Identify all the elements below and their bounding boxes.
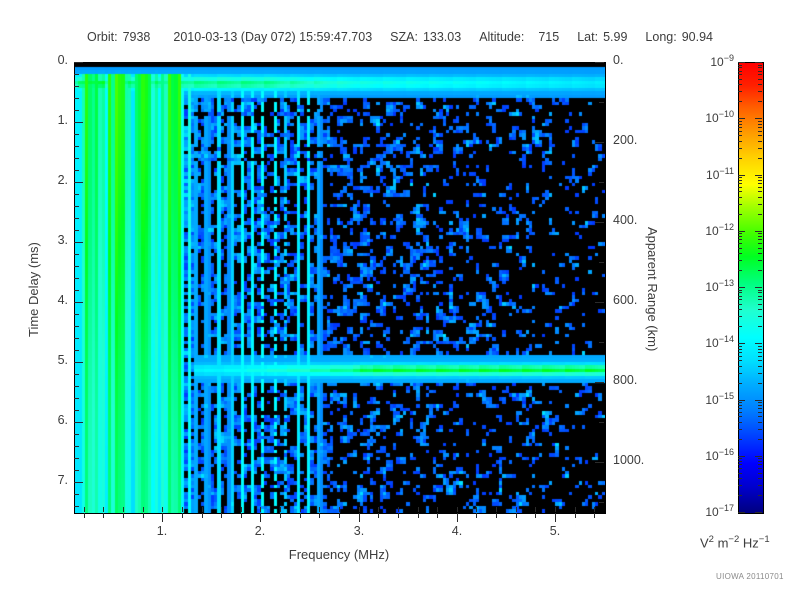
y-axis-major-tick (74, 302, 83, 303)
colorbar-minor-tick (738, 464, 742, 465)
colorbar-units: V2 m−2 Hz−1 (700, 534, 770, 550)
x-axis-minor-tick (202, 513, 203, 518)
y-axis-minor-tick (74, 158, 79, 159)
header-lat-value: 5.99 (603, 30, 627, 44)
y-axis-minor-tick (74, 110, 79, 111)
header-sza-value: 133.03 (423, 30, 461, 44)
y-axis-major-tick (74, 482, 83, 483)
y2-axis-tick-label: 1000. (613, 453, 644, 467)
x-axis-tick-label: 5. (535, 524, 575, 538)
x-axis-minor-tick (84, 513, 85, 518)
x-axis-minor-tick-inner (202, 507, 203, 512)
colorbar-major-tick (738, 456, 745, 457)
colorbar-minor-tick (758, 296, 762, 297)
colorbar-minor-tick (758, 290, 762, 291)
colorbar-minor-tick (758, 304, 762, 305)
y-axis-minor-tick (74, 194, 79, 195)
colorbar (738, 62, 764, 514)
colorbar-minor-tick (738, 253, 742, 254)
header-sza-key: SZA: (390, 30, 418, 44)
y-axis-minor-tick (74, 86, 79, 87)
colorbar-major-tick (755, 400, 762, 401)
colorbar-minor-tick (738, 180, 742, 181)
colorbar-minor-tick (758, 402, 762, 403)
y-axis-minor-tick (74, 206, 79, 207)
colorbar-minor-tick (738, 352, 742, 353)
y2-axis-major-tick (595, 302, 604, 303)
x-axis-minor-tick-inner (300, 507, 301, 512)
y-axis-tick-label: 1. (38, 113, 68, 127)
colorbar-minor-tick (738, 270, 742, 271)
y-axis-minor-tick (74, 218, 79, 219)
colorbar-minor-tick (758, 135, 762, 136)
x-axis-minor-tick (123, 513, 124, 518)
y-axis-minor-tick (74, 398, 79, 399)
plot-header: Orbit:79382010-03-13 (Day 072) 15:59:47.… (0, 30, 800, 44)
y-axis-minor-tick (74, 434, 79, 435)
y-axis-minor-tick (74, 374, 79, 375)
colorbar-major-tick (755, 456, 762, 457)
colorbar-minor-tick (738, 79, 742, 80)
x-axis-tick-label: 4. (437, 524, 477, 538)
colorbar-minor-tick (738, 204, 742, 205)
y2-axis-title: Apparent Range (km) (645, 227, 660, 351)
x-axis-minor-tick-inner (594, 507, 595, 512)
y2-axis-tick-label: 600. (613, 293, 637, 307)
colorbar-tick-label: 10−13 (680, 278, 734, 294)
x-axis-minor-tick-inner (143, 507, 144, 512)
y-axis-tick-label: 6. (38, 413, 68, 427)
header-orbit-key: Orbit: (87, 30, 118, 44)
y2-axis-major-tick (595, 382, 604, 383)
colorbar-minor-tick (758, 177, 762, 178)
colorbar-minor-tick (738, 233, 742, 234)
colorbar-minor-tick (738, 429, 742, 430)
x-axis-minor-tick (300, 513, 301, 518)
colorbar-minor-tick (738, 412, 742, 413)
colorbar-minor-tick (758, 416, 762, 417)
x-axis-minor-tick-inner (260, 507, 261, 512)
colorbar-minor-tick (738, 135, 742, 136)
colorbar-minor-tick (758, 183, 762, 184)
colorbar-minor-tick (738, 71, 742, 72)
colorbar-minor-tick (738, 495, 742, 496)
colorbar-major-tick (755, 62, 762, 63)
colorbar-minor-tick (758, 461, 762, 462)
x-axis-minor-tick-inner (496, 507, 497, 512)
x-axis-minor-tick (280, 513, 281, 518)
y2-axis-tick-label: 400. (613, 213, 637, 227)
x-axis-minor-tick-inner (280, 507, 281, 512)
colorbar-minor-tick (738, 124, 742, 125)
colorbar-minor-tick (758, 260, 762, 261)
colorbar-minor-tick (758, 299, 762, 300)
colorbar-minor-tick (758, 67, 762, 68)
colorbar-minor-tick (758, 84, 762, 85)
header-orbit-value: 7938 (123, 30, 151, 44)
colorbar-minor-tick (758, 127, 762, 128)
y-axis-minor-tick (74, 146, 79, 147)
colorbar-major-tick (738, 231, 745, 232)
colorbar-minor-tick (758, 270, 762, 271)
colorbar-minor-tick (758, 180, 762, 181)
colorbar-minor-tick (758, 197, 762, 198)
colorbar-tick-label: 10−17 (680, 503, 734, 519)
colorbar-minor-tick (758, 233, 762, 234)
colorbar-minor-tick (758, 187, 762, 188)
x-axis-minor-tick-inner (182, 507, 183, 512)
x-axis-minor-tick (319, 513, 320, 518)
y-axis-tick-label: 5. (38, 353, 68, 367)
colorbar-major-tick (738, 343, 745, 344)
x-axis-minor-tick-inner (398, 507, 399, 512)
colorbar-minor-tick (758, 429, 762, 430)
y-axis-minor-tick (74, 338, 79, 339)
colorbar-minor-tick (738, 158, 742, 159)
colorbar-minor-tick (738, 292, 742, 293)
x-axis-major-tick (457, 513, 458, 522)
colorbar-minor-tick (758, 422, 762, 423)
colorbar-minor-tick (738, 74, 742, 75)
x-axis-minor-tick-inner (418, 507, 419, 512)
colorbar-major-tick (755, 512, 762, 513)
colorbar-minor-tick (758, 292, 762, 293)
x-axis-tick-label: 3. (339, 524, 379, 538)
colorbar-major-tick (738, 62, 745, 63)
y-axis-minor-tick (74, 98, 79, 99)
x-axis-major-tick (162, 513, 163, 522)
y2-axis-tick-label: 800. (613, 373, 637, 387)
colorbar-major-tick (755, 175, 762, 176)
x-axis-minor-tick-inner (339, 507, 340, 512)
colorbar-minor-tick (738, 383, 742, 384)
colorbar-major-tick (755, 287, 762, 288)
colorbar-minor-tick (738, 84, 742, 85)
y-axis-minor-tick (74, 506, 79, 507)
y2-axis-major-tick (595, 142, 604, 143)
colorbar-minor-tick (758, 91, 762, 92)
y2-axis-minor-tick (599, 262, 604, 263)
colorbar-minor-tick (738, 248, 742, 249)
y-axis-major-tick (74, 242, 83, 243)
colorbar-minor-tick (758, 65, 762, 66)
x-axis-minor-tick-inner (319, 507, 320, 512)
colorbar-minor-tick (758, 316, 762, 317)
colorbar-minor-tick (758, 141, 762, 142)
colorbar-minor-tick (738, 346, 742, 347)
colorbar-minor-tick (758, 204, 762, 205)
x-axis-major-tick (555, 513, 556, 522)
y2-axis-minor-tick (599, 342, 604, 343)
colorbar-minor-tick (758, 158, 762, 159)
x-axis-minor-tick-inner (123, 507, 124, 512)
colorbar-minor-tick (738, 405, 742, 406)
colorbar-tick-label: 10−15 (680, 391, 734, 407)
colorbar-minor-tick (738, 473, 742, 474)
x-axis-minor-tick-inner (516, 507, 517, 512)
y-axis-tick-label: 3. (38, 233, 68, 247)
y-axis-tick-label: 0. (38, 53, 68, 67)
colorbar-minor-tick (738, 121, 742, 122)
colorbar-minor-tick (738, 197, 742, 198)
colorbar-major-tick (738, 118, 745, 119)
colorbar-major-tick (738, 512, 745, 513)
colorbar-minor-tick (738, 468, 742, 469)
y-axis-major-tick (74, 422, 83, 423)
y2-axis-minor-tick (599, 422, 604, 423)
y2-axis-minor-tick (599, 182, 604, 183)
colorbar-major-tick (755, 118, 762, 119)
y-axis-minor-tick (74, 314, 79, 315)
y-axis-minor-tick (74, 74, 79, 75)
colorbar-major-tick (738, 287, 745, 288)
header-altitude-key: Altitude: (479, 30, 524, 44)
colorbar-minor-tick (758, 464, 762, 465)
colorbar-minor-tick (738, 127, 742, 128)
colorbar-minor-tick (738, 326, 742, 327)
colorbar-minor-tick (738, 309, 742, 310)
colorbar-minor-tick (758, 349, 762, 350)
x-axis-minor-tick (182, 513, 183, 518)
colorbar-minor-tick (738, 408, 742, 409)
y2-axis-major-tick (595, 462, 604, 463)
x-axis-minor-tick-inner (457, 507, 458, 512)
colorbar-minor-tick (738, 101, 742, 102)
colorbar-minor-tick (738, 485, 742, 486)
colorbar-minor-tick (758, 191, 762, 192)
colorbar-minor-tick (758, 360, 762, 361)
colorbar-minor-tick (758, 124, 762, 125)
colorbar-minor-tick (738, 439, 742, 440)
x-axis-minor-tick (437, 513, 438, 518)
x-axis-minor-tick (476, 513, 477, 518)
colorbar-minor-tick (758, 79, 762, 80)
colorbar-minor-tick (758, 408, 762, 409)
colorbar-major-tick (755, 343, 762, 344)
x-axis-minor-tick-inner (241, 507, 242, 512)
colorbar-minor-tick (758, 485, 762, 486)
y-axis-tick-label: 2. (38, 173, 68, 187)
x-axis-minor-tick-inner (555, 507, 556, 512)
header-altitude-value: 715 (538, 30, 559, 44)
colorbar-minor-tick (738, 65, 742, 66)
colorbar-minor-tick (738, 239, 742, 240)
y-axis-minor-tick (74, 386, 79, 387)
colorbar-minor-tick (758, 74, 762, 75)
colorbar-minor-tick (758, 239, 762, 240)
x-axis-minor-tick (398, 513, 399, 518)
colorbar-minor-tick (758, 71, 762, 72)
x-axis-minor-tick-inner (162, 507, 163, 512)
x-axis-minor-tick (496, 513, 497, 518)
x-axis-major-tick (260, 513, 261, 522)
x-axis-minor-tick (516, 513, 517, 518)
colorbar-minor-tick (738, 91, 742, 92)
x-axis-minor-tick (241, 513, 242, 518)
y-axis-major-tick (74, 362, 83, 363)
y-axis-major-tick (74, 182, 83, 183)
x-axis-minor-tick (418, 513, 419, 518)
x-axis-tick-label: 1. (142, 524, 182, 538)
colorbar-minor-tick (758, 214, 762, 215)
colorbar-minor-tick (758, 383, 762, 384)
ionogram-plot-area (74, 62, 606, 514)
x-axis-minor-tick-inner (535, 507, 536, 512)
x-axis-minor-tick (575, 513, 576, 518)
colorbar-minor-tick (738, 416, 742, 417)
colorbar-minor-tick (738, 360, 742, 361)
x-axis-minor-tick-inner (575, 507, 576, 512)
header-long-value: 90.94 (682, 30, 713, 44)
colorbar-minor-tick (738, 290, 742, 291)
colorbar-tick-label: 10−11 (680, 166, 734, 182)
y2-axis-tick-label: 0. (613, 53, 623, 67)
y2-axis-major-tick (595, 62, 604, 63)
y-axis-minor-tick (74, 410, 79, 411)
colorbar-tick-label: 10−10 (680, 109, 734, 125)
x-axis-minor-tick-inner (378, 507, 379, 512)
credit-label: UIOWA 20110701 (716, 572, 784, 581)
colorbar-minor-tick (758, 473, 762, 474)
colorbar-minor-tick (758, 405, 762, 406)
y-axis-minor-tick (74, 170, 79, 171)
colorbar-major-tick (738, 175, 745, 176)
x-axis-minor-tick (143, 513, 144, 518)
ionogram-heatmap (75, 63, 605, 513)
header-lat-key: Lat: (577, 30, 598, 44)
colorbar-minor-tick (738, 141, 742, 142)
colorbar-minor-tick (758, 101, 762, 102)
colorbar-minor-tick (758, 248, 762, 249)
colorbar-minor-tick (738, 260, 742, 261)
y-axis-minor-tick (74, 470, 79, 471)
y-axis-minor-tick (74, 494, 79, 495)
y-axis-minor-tick (74, 350, 79, 351)
y2-axis-minor-tick (599, 502, 604, 503)
x-axis-minor-tick (535, 513, 536, 518)
x-axis-major-tick (359, 513, 360, 522)
x-axis-minor-tick-inner (437, 507, 438, 512)
colorbar-minor-tick (738, 243, 742, 244)
colorbar-minor-tick (738, 356, 742, 357)
header-date-value: 2010-03-13 (Day 072) 15:59:47.703 (173, 30, 372, 44)
y-axis-major-tick (74, 122, 83, 123)
colorbar-minor-tick (758, 356, 762, 357)
colorbar-minor-tick (758, 236, 762, 237)
y-axis-minor-tick (74, 254, 79, 255)
colorbar-minor-tick (738, 478, 742, 479)
y-axis-minor-tick (74, 446, 79, 447)
colorbar-minor-tick (758, 495, 762, 496)
colorbar-minor-tick (738, 191, 742, 192)
y-axis-tick-label: 4. (38, 293, 68, 307)
colorbar-minor-tick (738, 349, 742, 350)
y-axis-minor-tick (74, 266, 79, 267)
x-axis-minor-tick-inner (221, 507, 222, 512)
colorbar-minor-tick (738, 461, 742, 462)
x-axis-minor-tick (339, 513, 340, 518)
y-axis-minor-tick (74, 326, 79, 327)
colorbar-minor-tick (758, 326, 762, 327)
colorbar-major-tick (738, 400, 745, 401)
y-axis-title: Time Delay (ms) (26, 242, 41, 337)
colorbar-minor-tick (758, 253, 762, 254)
colorbar-minor-tick (738, 422, 742, 423)
colorbar-minor-tick (758, 352, 762, 353)
y-axis-minor-tick (74, 278, 79, 279)
y2-axis-major-tick (595, 222, 604, 223)
x-axis-tick-label: 2. (240, 524, 280, 538)
colorbar-minor-tick (758, 478, 762, 479)
colorbar-tick-label: 10−14 (680, 334, 734, 350)
colorbar-minor-tick (738, 316, 742, 317)
colorbar-minor-tick (758, 412, 762, 413)
colorbar-minor-tick (738, 373, 742, 374)
colorbar-minor-tick (738, 299, 742, 300)
colorbar-minor-tick (738, 187, 742, 188)
x-axis-minor-tick-inner (359, 507, 360, 512)
x-axis-title: Frequency (MHz) (0, 547, 678, 562)
y-axis-minor-tick (74, 230, 79, 231)
colorbar-minor-tick (758, 439, 762, 440)
x-axis-minor-tick-inner (84, 507, 85, 512)
colorbar-minor-tick (738, 67, 742, 68)
header-long-key: Long: (645, 30, 676, 44)
colorbar-minor-tick (758, 366, 762, 367)
colorbar-minor-tick (758, 458, 762, 459)
y2-axis-minor-tick (599, 102, 604, 103)
colorbar-minor-tick (738, 177, 742, 178)
colorbar-minor-tick (738, 296, 742, 297)
colorbar-minor-tick (738, 148, 742, 149)
colorbar-minor-tick (758, 373, 762, 374)
x-axis-minor-tick (221, 513, 222, 518)
colorbar-minor-tick (738, 214, 742, 215)
x-axis-minor-tick (378, 513, 379, 518)
y-axis-minor-tick (74, 290, 79, 291)
x-axis-minor-tick (594, 513, 595, 518)
colorbar-minor-tick (738, 304, 742, 305)
colorbar-minor-tick (738, 402, 742, 403)
colorbar-minor-tick (758, 131, 762, 132)
colorbar-tick-label: 10−9 (680, 53, 734, 69)
colorbar-minor-tick (738, 183, 742, 184)
colorbar-minor-tick (758, 468, 762, 469)
colorbar-minor-tick (758, 243, 762, 244)
x-axis-minor-tick-inner (103, 507, 104, 512)
colorbar-major-tick (755, 231, 762, 232)
colorbar-tick-label: 10−12 (680, 222, 734, 238)
colorbar-minor-tick (758, 121, 762, 122)
colorbar-minor-tick (738, 366, 742, 367)
y-axis-tick-label: 7. (38, 473, 68, 487)
colorbar-minor-tick (738, 458, 742, 459)
y-axis-major-tick (74, 62, 83, 63)
colorbar-minor-tick (738, 236, 742, 237)
y-axis-minor-tick (74, 134, 79, 135)
colorbar-minor-tick (758, 148, 762, 149)
y-axis-minor-tick (74, 458, 79, 459)
colorbar-minor-tick (758, 309, 762, 310)
y2-axis-tick-label: 200. (613, 133, 637, 147)
x-axis-minor-tick (103, 513, 104, 518)
colorbar-minor-tick (738, 131, 742, 132)
colorbar-minor-tick (758, 346, 762, 347)
colorbar-tick-label: 10−16 (680, 447, 734, 463)
x-axis-minor-tick-inner (476, 507, 477, 512)
